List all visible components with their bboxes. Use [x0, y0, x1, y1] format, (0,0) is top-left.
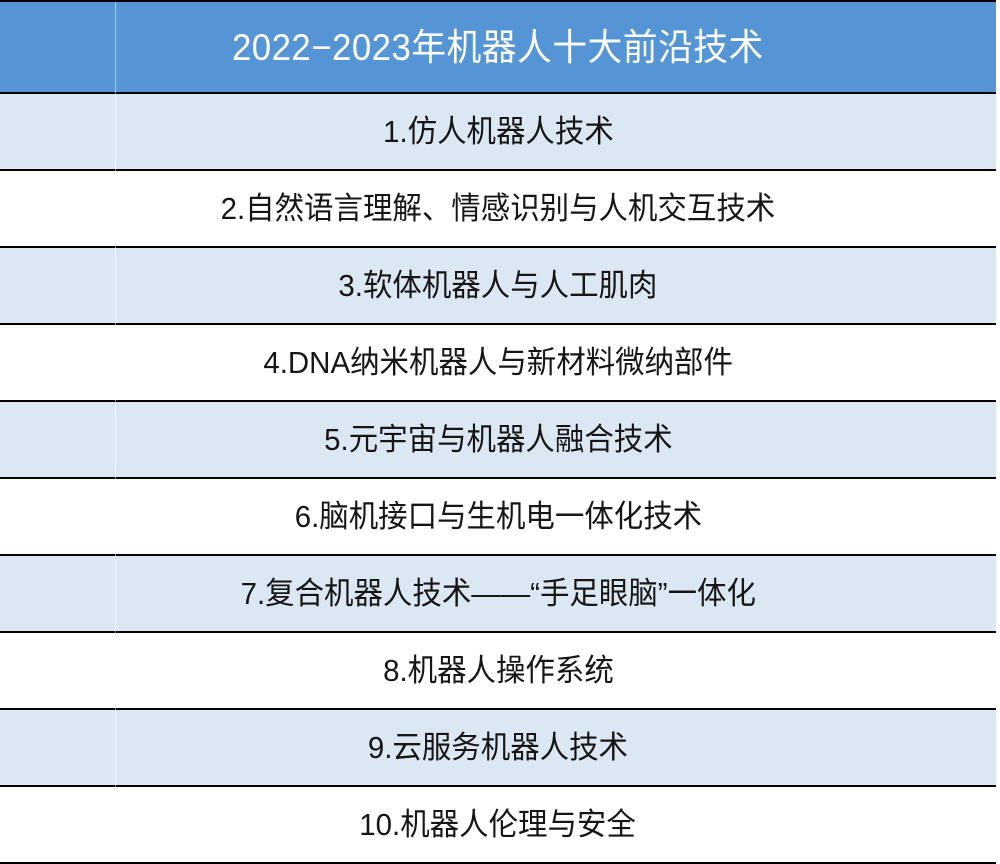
technology-item-label: 3.软体机器人与人工肌肉: [338, 270, 657, 301]
technology-item-label: 5.元宇宙与机器人融合技术: [324, 424, 673, 455]
table-cell: 5.元宇宙与机器人融合技术: [0, 401, 996, 478]
table-row: 7.复合机器人技术——“手足眼脑”一体化: [0, 555, 996, 632]
technology-item-label: 10.机器人伦理与安全: [360, 809, 637, 840]
table-cell: 9.云服务机器人技术: [0, 709, 996, 786]
technology-item-label: 4.DNA纳米机器人与新材料微纳部件: [263, 347, 733, 378]
table-row: 8.机器人操作系统: [0, 632, 996, 709]
table-header-cell: 2022−2023年机器人十大前沿技术: [0, 1, 996, 93]
table-row: 1.仿人机器人技术: [0, 93, 996, 170]
technology-item-label: 2.自然语言理解、情感识别与人机交互技术: [221, 193, 776, 224]
technology-item-label: 8.机器人操作系统: [383, 655, 614, 686]
table-row: 3.软体机器人与人工肌肉: [0, 247, 996, 324]
table-row: 4.DNA纳米机器人与新材料微纳部件: [0, 324, 996, 401]
technology-item-label: 9.云服务机器人技术: [368, 732, 628, 763]
technology-list-table: 2022−2023年机器人十大前沿技术 1.仿人机器人技术 2.自然语言理解、情…: [0, 0, 996, 864]
technology-item-label: 7.复合机器人技术——“手足眼脑”一体化: [240, 578, 755, 609]
table-cell: 3.软体机器人与人工肌肉: [0, 247, 996, 324]
table-row: 2.自然语言理解、情感识别与人机交互技术: [0, 170, 996, 247]
technology-item-label: 1.仿人机器人技术: [383, 116, 614, 147]
table-cell: 2.自然语言理解、情感识别与人机交互技术: [0, 170, 996, 247]
table-cell: 10.机器人伦理与安全: [0, 786, 996, 863]
table-row: 10.机器人伦理与安全: [0, 786, 996, 863]
top-ten-technologies-table: 2022−2023年机器人十大前沿技术 1.仿人机器人技术 2.自然语言理解、情…: [0, 0, 996, 860]
table-cell: 8.机器人操作系统: [0, 632, 996, 709]
table-row: 5.元宇宙与机器人融合技术: [0, 401, 996, 478]
table-header-row: 2022−2023年机器人十大前沿技术: [0, 1, 996, 93]
table-row: 9.云服务机器人技术: [0, 709, 996, 786]
table-cell: 6.脑机接口与生机电一体化技术: [0, 478, 996, 555]
page-title: 2022−2023年机器人十大前沿技术: [232, 29, 764, 66]
table-cell: 7.复合机器人技术——“手足眼脑”一体化: [0, 555, 996, 632]
table-cell: 1.仿人机器人技术: [0, 93, 996, 170]
table-row: 6.脑机接口与生机电一体化技术: [0, 478, 996, 555]
table-cell: 4.DNA纳米机器人与新材料微纳部件: [0, 324, 996, 401]
technology-item-label: 6.脑机接口与生机电一体化技术: [294, 501, 701, 532]
